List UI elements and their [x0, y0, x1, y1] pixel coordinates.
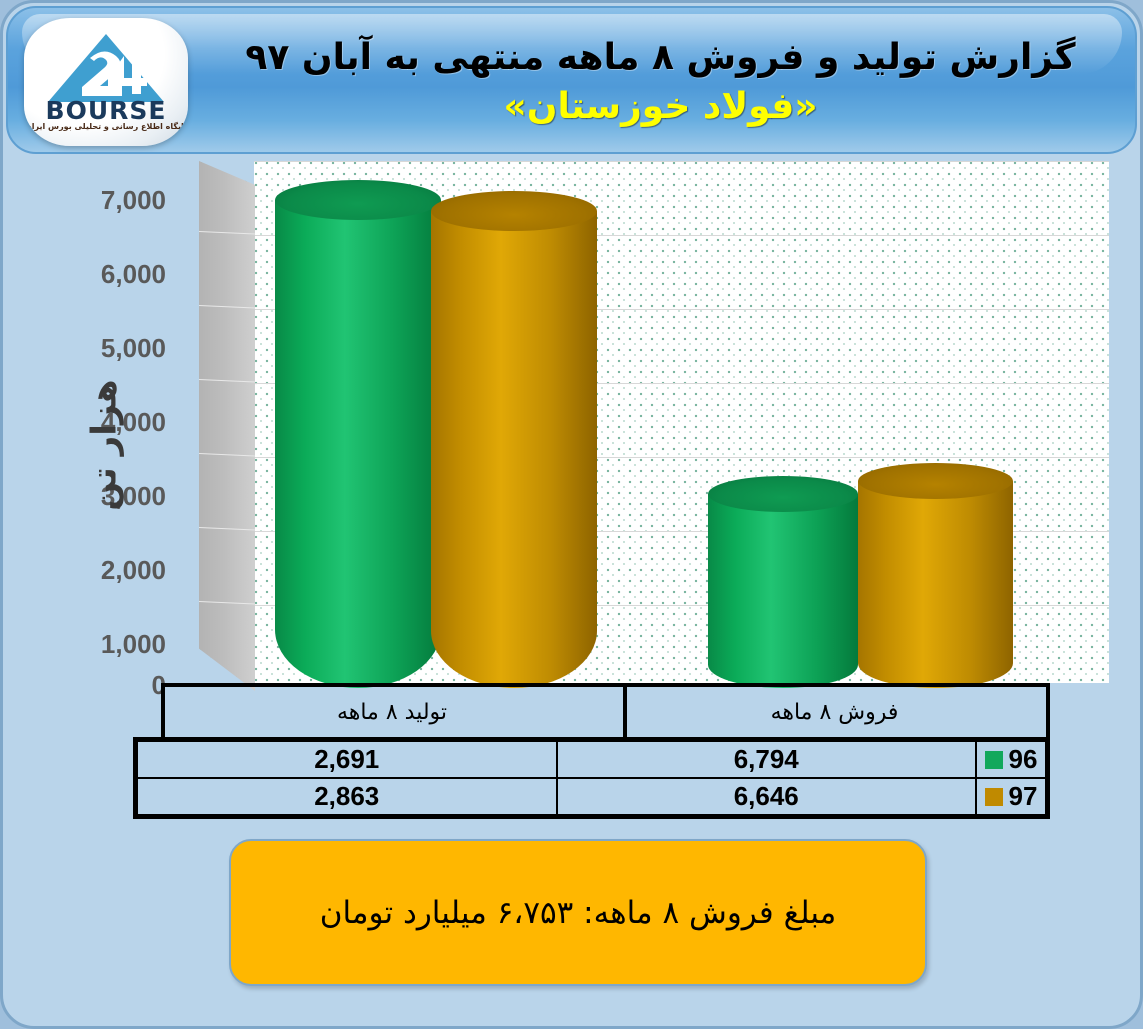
cell-production-97: 6,646	[557, 778, 977, 815]
category-labels-row: تولید ۸ ماهه فروش ۸ ماهه	[161, 687, 1050, 737]
bar-top-ellipse	[858, 463, 1013, 499]
gridline	[254, 161, 1109, 162]
cell-sales-97: 2,863	[137, 778, 557, 815]
wall-gridline	[199, 305, 255, 309]
bar-top-ellipse	[275, 180, 441, 220]
legend-cell-97: 97	[976, 778, 1046, 815]
y-tick-label: 2,000	[38, 555, 166, 586]
sales-amount-text: مبلغ فروش ۸ ماهه: ۶،۷۵۳ میلیارد تومان	[320, 895, 837, 931]
bar-chart: 7,000 6,000 5,000 4,000 3,000 2,000 1,00…	[3, 155, 1143, 700]
wall-gridline	[199, 379, 255, 383]
wall-gridline	[199, 231, 255, 235]
logo: BOURSE پایگاه اطلاع رسانی و تحلیلی بورس …	[24, 18, 188, 146]
chart-3d-wall	[199, 161, 255, 691]
bar-top-ellipse	[431, 191, 597, 231]
y-tick-label: 0	[38, 670, 166, 701]
legend-label-97: 97	[1009, 781, 1038, 812]
sales-amount-box: مبلغ فروش ۸ ماهه: ۶،۷۵۳ میلیارد تومان	[229, 839, 927, 986]
wall-gridline	[199, 527, 255, 531]
bar-sales-97	[858, 463, 1013, 688]
y-axis-title: هزار تن	[85, 379, 125, 510]
wall-gridline	[199, 601, 255, 605]
y-tick-label: 7,000	[38, 185, 166, 216]
logo-tagline: پایگاه اطلاع رسانی و تحلیلی بورس ایران	[24, 122, 188, 131]
page-title: گزارش تولید و فروش ۸ ماهه منتهی به آبان …	[245, 35, 1075, 80]
header-banner: BOURSE پایگاه اطلاع رسانی و تحلیلی بورس …	[6, 6, 1137, 154]
y-tick-label: 6,000	[38, 259, 166, 290]
bar-production-96	[275, 180, 441, 688]
legend-cell-96: 96	[976, 741, 1046, 778]
data-table: 96 6,794 2,691 97 6,646 2,863	[133, 737, 1050, 819]
title-block: گزارش تولید و فروش ۸ ماهه منتهی به آبان …	[198, 16, 1123, 148]
table-row: 97 6,646 2,863	[137, 778, 1046, 815]
bar-sales-96	[708, 476, 858, 688]
y-tick-label: 5,000	[38, 333, 166, 364]
cell-production-96: 6,794	[557, 741, 977, 778]
company-name: «فولاد خوزستان»	[503, 84, 817, 129]
report-card: BOURSE پایگاه اطلاع رسانی و تحلیلی بورس …	[0, 0, 1143, 1029]
logo-wordmark: BOURSE	[24, 96, 188, 125]
y-tick-label: 1,000	[38, 629, 166, 660]
bar-production-97	[431, 191, 597, 688]
table-row: 96 6,794 2,691	[137, 741, 1046, 778]
bar-body	[431, 211, 597, 688]
bar-body	[708, 494, 858, 688]
legend-label-96: 96	[1009, 744, 1038, 775]
category-label-sales: فروش ۸ ماهه	[623, 687, 1046, 737]
wall-gridline	[199, 453, 255, 457]
legend-swatch-gold-icon	[985, 788, 1003, 806]
cell-sales-96: 2,691	[137, 741, 557, 778]
triangle-logo-icon	[46, 32, 166, 104]
bar-body	[858, 481, 1013, 688]
bar-body	[275, 200, 441, 688]
bar-top-ellipse	[708, 476, 858, 512]
category-label-production: تولید ۸ ماهه	[161, 687, 623, 737]
legend-swatch-green-icon	[985, 751, 1003, 769]
